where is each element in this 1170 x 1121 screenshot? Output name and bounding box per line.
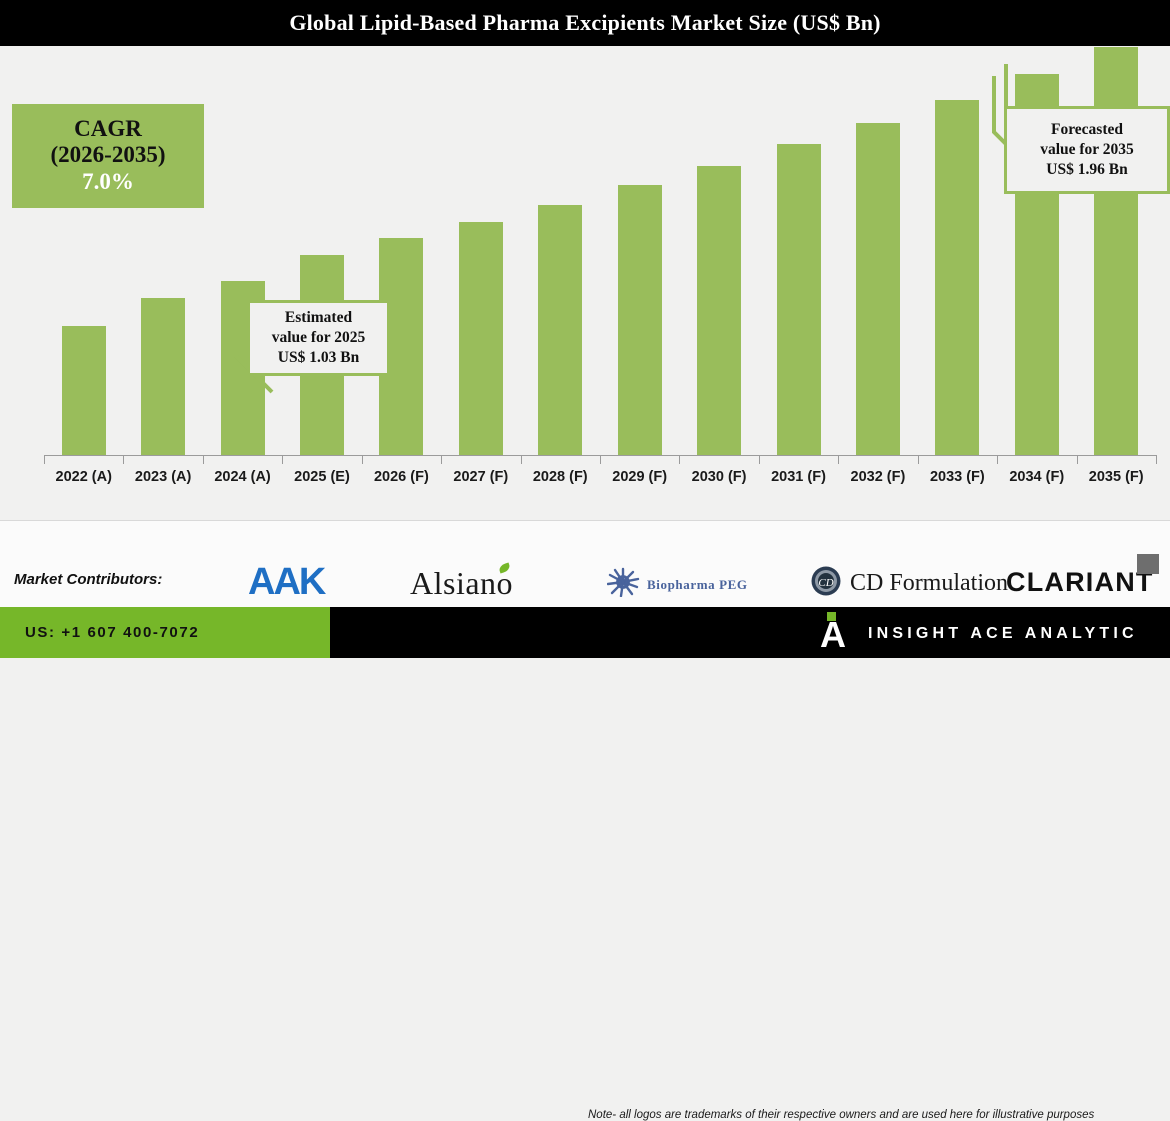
cagr-line-2: (2026-2035) — [51, 142, 166, 168]
insight-ace-brand: A INSIGHT ACE ANALYTIC — [820, 616, 1138, 652]
biopharma-peg-logo: Biopharma PEG — [607, 567, 748, 602]
bar-cell — [759, 46, 838, 456]
clariant-square-icon — [1137, 554, 1159, 574]
cagr-badge: CAGR (2026-2035) 7.0% — [12, 104, 204, 208]
bar-2029-f- — [618, 185, 662, 456]
svg-text:CD: CD — [818, 577, 833, 589]
chart-panel: 2022 (A)2023 (A)2024 (A)2025 (E)2026 (F)… — [0, 46, 1170, 520]
x-axis-tick — [1156, 455, 1157, 464]
biopharma-peg-logo-text: Biopharma PEG — [647, 577, 748, 593]
x-axis-tick — [441, 455, 442, 464]
x-axis-ticks — [44, 455, 1156, 464]
x-axis-tick — [918, 455, 919, 464]
x-axis-label: 2027 (F) — [441, 464, 520, 490]
x-axis-tick — [203, 455, 204, 464]
clariant-logo-text: CLARIANT — [1006, 567, 1154, 598]
x-axis-label: 2024 (A) — [203, 464, 282, 490]
cd-formulation-mark-icon: CD — [810, 565, 842, 602]
bar-cell — [362, 46, 441, 456]
market-contributors-strip: Market Contributors: AAK Alsiano — [0, 520, 1170, 607]
bar-2022-a- — [62, 326, 106, 456]
aak-logo: AAK — [248, 561, 324, 604]
bar-cell — [679, 46, 758, 456]
x-axis-label: 2026 (F) — [362, 464, 441, 490]
bar-2027-f- — [459, 222, 503, 456]
x-axis-tick — [1077, 455, 1078, 464]
x-axis-label: 2035 (F) — [1076, 464, 1155, 490]
x-axis-tick — [282, 455, 283, 464]
logo-disclaimer-note: Note- all logos are trademarks of their … — [588, 1109, 1094, 1121]
clariant-logo: CLARIANT — [1006, 567, 1154, 598]
infographic-page: Global Lipid-Based Pharma Excipients Mar… — [0, 0, 1170, 658]
callout-forecasted-line-3: US$ 1.96 Bn — [1046, 160, 1127, 180]
contributors-label: Market Contributors: — [14, 571, 162, 588]
cd-formulation-logo: CD CD Formulation — [810, 565, 1008, 602]
bar-2032-f- — [856, 123, 900, 456]
callout-forecasted-line-2: value for 2035 — [1040, 140, 1134, 160]
x-axis-tick — [44, 455, 45, 464]
title-bar: Global Lipid-Based Pharma Excipients Mar… — [0, 0, 1170, 46]
bar-cell — [441, 46, 520, 456]
logo-letter-a: A — [820, 618, 846, 652]
x-axis-tick — [838, 455, 839, 464]
bar-2031-f- — [777, 144, 821, 456]
x-axis-label: 2023 (A) — [123, 464, 202, 490]
x-axis-label: 2032 (F) — [838, 464, 917, 490]
cd-formulation-logo-text: CD Formulation — [850, 570, 1008, 597]
x-axis-label: 2034 (F) — [997, 464, 1076, 490]
bar-cell — [600, 46, 679, 456]
footer-bar: US: +1 607 400-7072 A INSIGHT ACE ANALYT… — [0, 607, 1170, 658]
x-axis-label: 2030 (F) — [679, 464, 758, 490]
x-axis-label: 2022 (A) — [44, 464, 123, 490]
x-axis-label: 2028 (F) — [521, 464, 600, 490]
bar-cell — [838, 46, 917, 456]
x-axis-tick — [679, 455, 680, 464]
alsiano-logo-text: Alsiano — [410, 565, 513, 602]
page-title: Global Lipid-Based Pharma Excipients Mar… — [289, 10, 880, 36]
bar-2030-f- — [697, 166, 741, 456]
x-axis-label: 2031 (F) — [759, 464, 838, 490]
x-axis-labels: 2022 (A)2023 (A)2024 (A)2025 (E)2026 (F)… — [44, 464, 1156, 490]
callout-estimated-2025: Estimated value for 2025 US$ 1.03 Bn — [247, 300, 390, 376]
callout-estimated-line-2: value for 2025 — [272, 328, 366, 348]
footer-contact-block: US: +1 607 400-7072 — [0, 607, 330, 658]
brand-name: INSIGHT ACE ANALYTIC — [868, 625, 1138, 643]
x-axis-tick — [759, 455, 760, 464]
x-axis-tick — [997, 455, 998, 464]
bar-2023-a- — [141, 298, 185, 456]
callout-forecasted-line-1: Forecasted — [1051, 120, 1123, 140]
callout-estimated-line-1: Estimated — [285, 308, 352, 328]
bar-cell — [521, 46, 600, 456]
x-axis-tick — [362, 455, 363, 464]
aak-logo-text: AAK — [248, 561, 324, 604]
cagr-line-3: 7.0% — [82, 168, 134, 196]
footer-phone-number[interactable]: US: +1 607 400-7072 — [25, 624, 199, 641]
cagr-line-1: CAGR — [74, 116, 142, 142]
x-axis-label: 2033 (F) — [918, 464, 997, 490]
x-axis-tick — [521, 455, 522, 464]
alsiano-logo: Alsiano — [410, 565, 513, 602]
x-axis-label: 2029 (F) — [600, 464, 679, 490]
callout-estimated-line-3: US$ 1.03 Bn — [278, 348, 359, 368]
insight-ace-logo-icon: A — [820, 616, 846, 652]
starburst-icon — [607, 567, 641, 602]
x-axis-label: 2025 (E) — [282, 464, 361, 490]
callout-forecasted-2035: Forecasted value for 2035 US$ 1.96 Bn — [1004, 106, 1170, 194]
bar-2028-f- — [538, 205, 582, 456]
x-axis-tick — [600, 455, 601, 464]
x-axis-tick — [123, 455, 124, 464]
